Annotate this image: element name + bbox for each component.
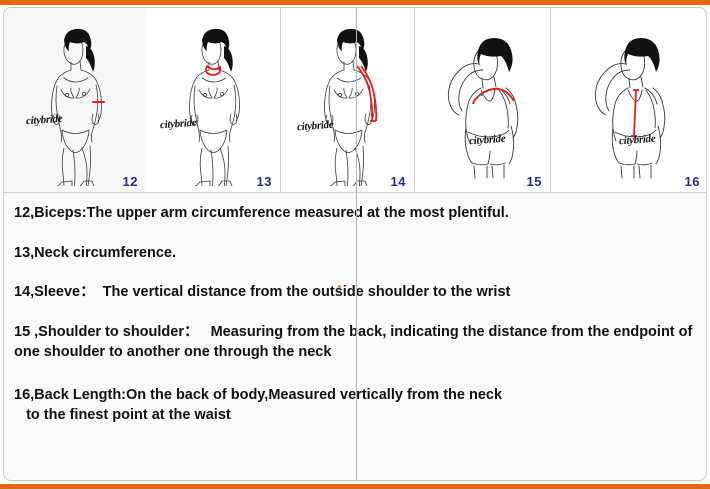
female-back-body-back-length-icon: [551, 8, 707, 192]
content-card: citybride 12: [3, 7, 707, 481]
figure-number-15: 15: [527, 174, 542, 189]
measurement-guide-page: citybride 12: [0, 0, 710, 489]
figure-panel-12[interactable]: citybride 12: [4, 8, 146, 192]
figure-number-13: 13: [257, 174, 272, 189]
back-length-measure-line: [631, 90, 639, 136]
watermark-citybride: citybride: [619, 133, 656, 148]
figure-panel-14[interactable]: citybride 14: [281, 8, 415, 192]
female-front-body-biceps-icon: [4, 8, 146, 192]
female-back-body-shoulder-icon: [415, 8, 550, 192]
figure-panel-15[interactable]: citybride 15: [415, 8, 551, 192]
page-speck: [338, 285, 341, 288]
figure-number-16: 16: [685, 174, 700, 189]
figure-number-14: 14: [391, 174, 406, 189]
female-front-body-neck-icon: [146, 8, 280, 192]
watermark-citybride: citybride: [297, 119, 334, 134]
bottom-accent-bar: [0, 484, 710, 489]
watermark-citybride: citybride: [160, 117, 197, 132]
figure-panel-13[interactable]: citybride 13: [146, 8, 281, 192]
figure-number-12: 12: [123, 174, 138, 189]
watermark-citybride: citybride: [469, 133, 506, 148]
top-accent-bar: [0, 0, 710, 5]
female-front-body-sleeve-icon: [281, 8, 414, 192]
watermark-citybride: citybride: [26, 113, 63, 128]
figure-panel-16[interactable]: citybride 16: [551, 8, 707, 192]
vertical-guide-line: [356, 8, 357, 481]
